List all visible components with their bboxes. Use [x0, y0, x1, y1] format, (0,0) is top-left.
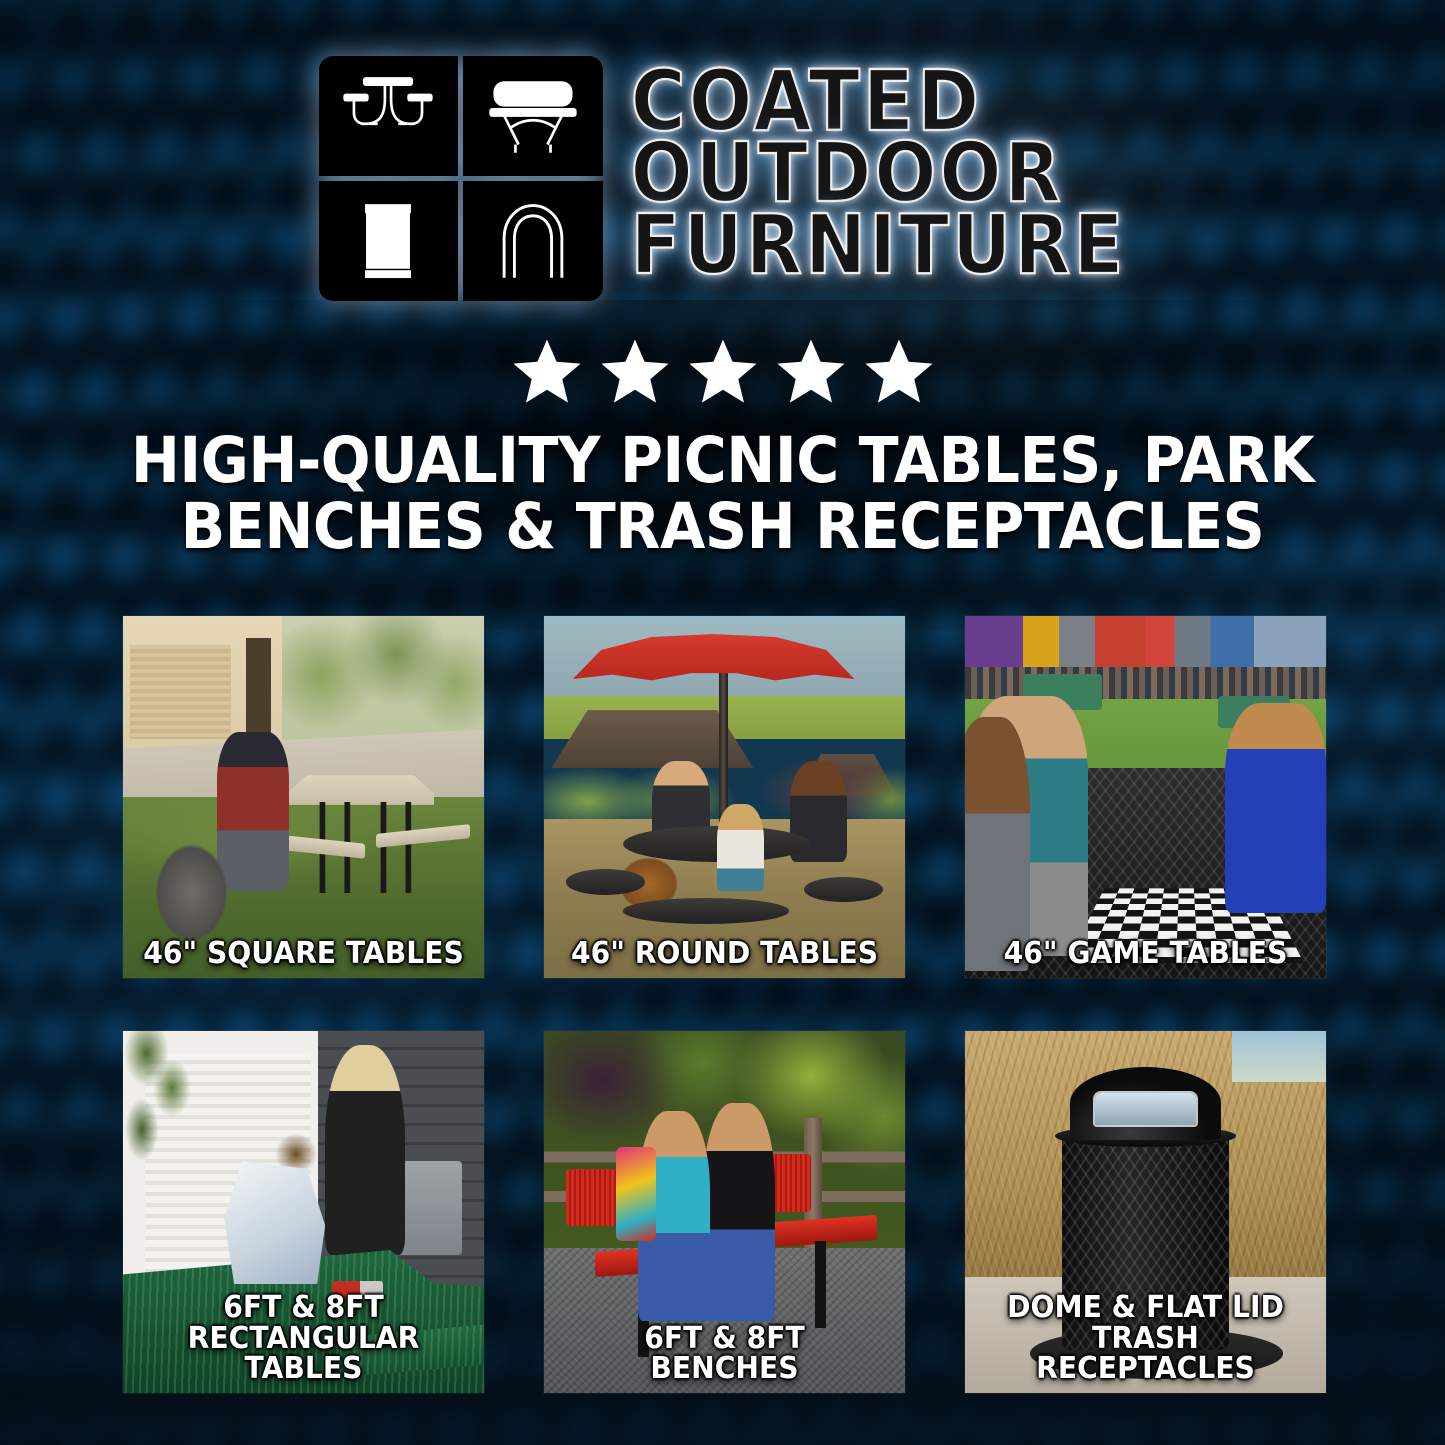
- page-title: HIGH-QUALITY PICNIC TABLES, PARK BENCHES…: [106, 428, 1338, 559]
- bench-table-icon: [463, 56, 603, 176]
- trash-receptacle-icon: [319, 181, 459, 301]
- tile-caption-line-2: RECTANGULAR TABLES: [138, 1324, 470, 1385]
- tile-caption-line-1: 6FT & 8FT: [559, 1324, 891, 1355]
- tile-caption-line-1: 46" GAME TABLES: [980, 939, 1312, 970]
- tile-caption: 6FT & 8FT BENCHES: [559, 1324, 891, 1385]
- brand-header: COATED OUTDOOR FURNITURE: [0, 56, 1445, 290]
- product-tile-grid: 46" SQUARE TABLES: [123, 616, 1326, 1393]
- tile-caption: 46" GAME TABLES: [980, 939, 1312, 970]
- headline-line-2: BENCHES & TRASH RECEPTACLES: [106, 494, 1338, 560]
- product-tile-round-tables[interactable]: 46" ROUND TABLES: [544, 616, 905, 978]
- tile-caption-line-1: 46" ROUND TABLES: [559, 939, 891, 970]
- tile-caption-line-1: DOME & FLAT LID: [980, 1293, 1312, 1324]
- product-tile-rectangular-tables[interactable]: 6FT & 8FT RECTANGULAR TABLES: [123, 1031, 484, 1393]
- tile-caption-line-1: 6FT & 8FT: [138, 1293, 470, 1324]
- product-photo-game-tables: [965, 616, 1326, 978]
- promo-graphic: COATED OUTDOOR FURNITURE HIGH-QUALITY PI…: [0, 0, 1445, 1445]
- tile-caption-line-2: TRASH RECEPTACLES: [980, 1324, 1312, 1385]
- tile-caption: 46" SQUARE TABLES: [138, 939, 470, 970]
- brand-wordmark: COATED OUTDOOR FURNITURE: [631, 65, 1127, 281]
- product-tile-square-tables[interactable]: 46" SQUARE TABLES: [123, 616, 484, 978]
- tile-caption-line-2: BENCHES: [559, 1354, 891, 1385]
- brand-logo-mark: [319, 56, 603, 290]
- brand-line-3: FURNITURE: [631, 207, 1127, 285]
- star-icon: [774, 336, 848, 408]
- star-icon: [686, 336, 760, 408]
- star-icon: [510, 336, 584, 408]
- tile-caption: DOME & FLAT LID TRASH RECEPTACLES: [980, 1293, 1312, 1385]
- headline-line-1: HIGH-QUALITY PICNIC TABLES, PARK: [106, 428, 1338, 494]
- star-icon: [598, 336, 672, 408]
- product-tile-benches[interactable]: 6FT & 8FT BENCHES: [544, 1031, 905, 1393]
- product-tile-trash-receptacles[interactable]: DOME & FLAT LID TRASH RECEPTACLES: [965, 1031, 1326, 1393]
- product-photo-round-tables: [544, 616, 905, 978]
- product-tile-game-tables[interactable]: 46" GAME TABLES: [965, 616, 1326, 978]
- tile-caption: 6FT & 8FT RECTANGULAR TABLES: [138, 1293, 470, 1385]
- tile-caption-line-1: 46" SQUARE TABLES: [138, 939, 470, 970]
- star-rating: [0, 336, 1445, 408]
- picnic-table-icon: [319, 56, 459, 176]
- product-photo-square-tables: [123, 616, 484, 978]
- tile-caption: 46" ROUND TABLES: [559, 939, 891, 970]
- bike-rack-icon: [463, 181, 603, 301]
- star-icon: [862, 336, 936, 408]
